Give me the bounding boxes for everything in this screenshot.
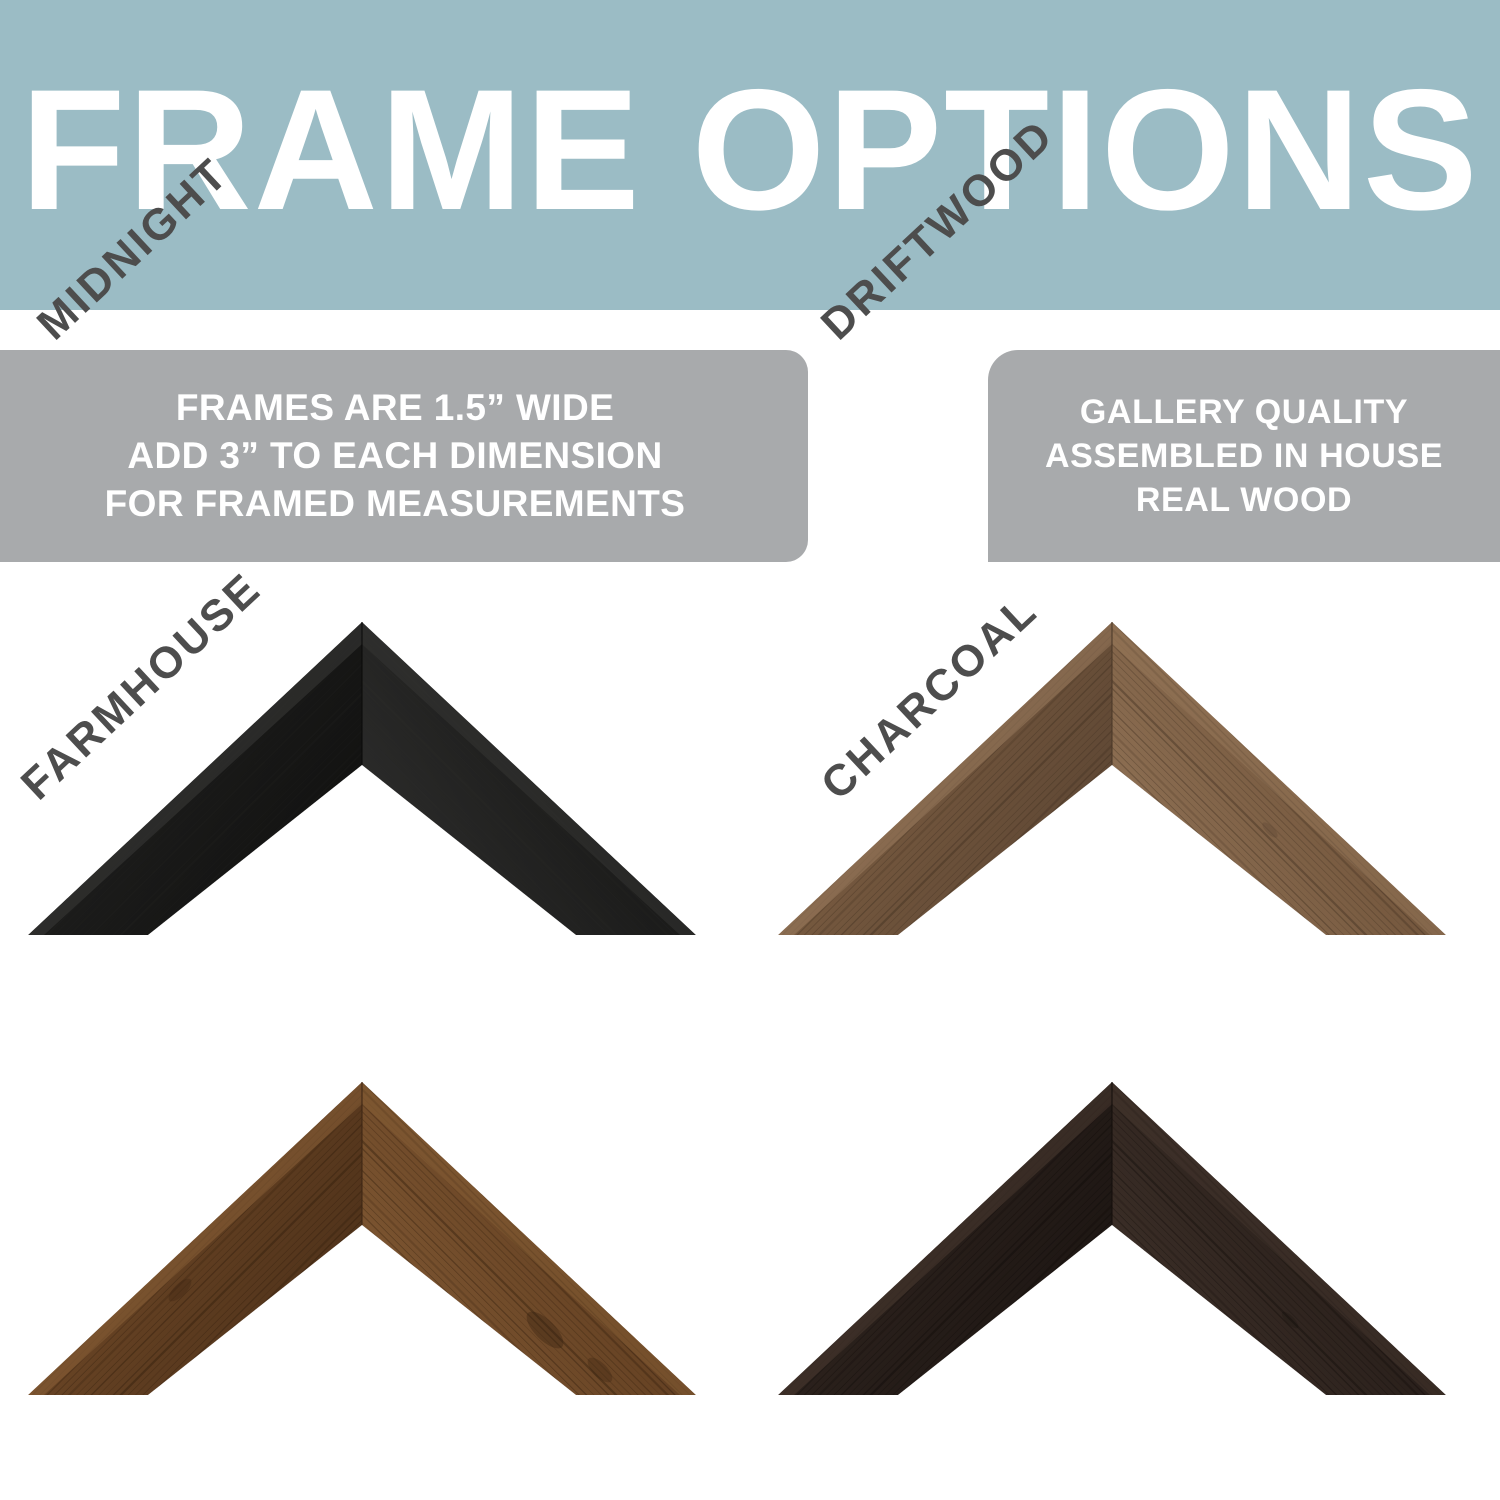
page-title: FRAME OPTIONS [20,64,1479,246]
header-banner: FRAME OPTIONS [0,0,1500,310]
frame-chevron-driftwood [750,580,1500,1040]
frame-chevron-midnight [0,580,750,1040]
frame-chevron-charcoal [750,1040,1500,1500]
info-banner-quality: GALLERY QUALITY ASSEMBLED IN HOUSE REAL … [988,350,1500,562]
frame-sample-farmhouse[interactable] [0,1040,750,1500]
frame-sample-grid [0,580,1500,1500]
frame-sample-charcoal[interactable] [750,1040,1500,1500]
frame-chevron-farmhouse [0,1040,750,1500]
info-banner-quality-text: GALLERY QUALITY ASSEMBLED IN HOUSE REAL … [1045,390,1443,523]
frame-sample-driftwood[interactable] [750,580,1500,1040]
frame-options-infographic: FRAME OPTIONS FRAMES ARE 1.5” WIDE ADD 3… [0,0,1500,1500]
info-banner-measurements: FRAMES ARE 1.5” WIDE ADD 3” TO EACH DIME… [0,350,808,562]
frame-sample-midnight[interactable] [0,580,750,1040]
info-banner-measurements-text: FRAMES ARE 1.5” WIDE ADD 3” TO EACH DIME… [105,384,704,528]
